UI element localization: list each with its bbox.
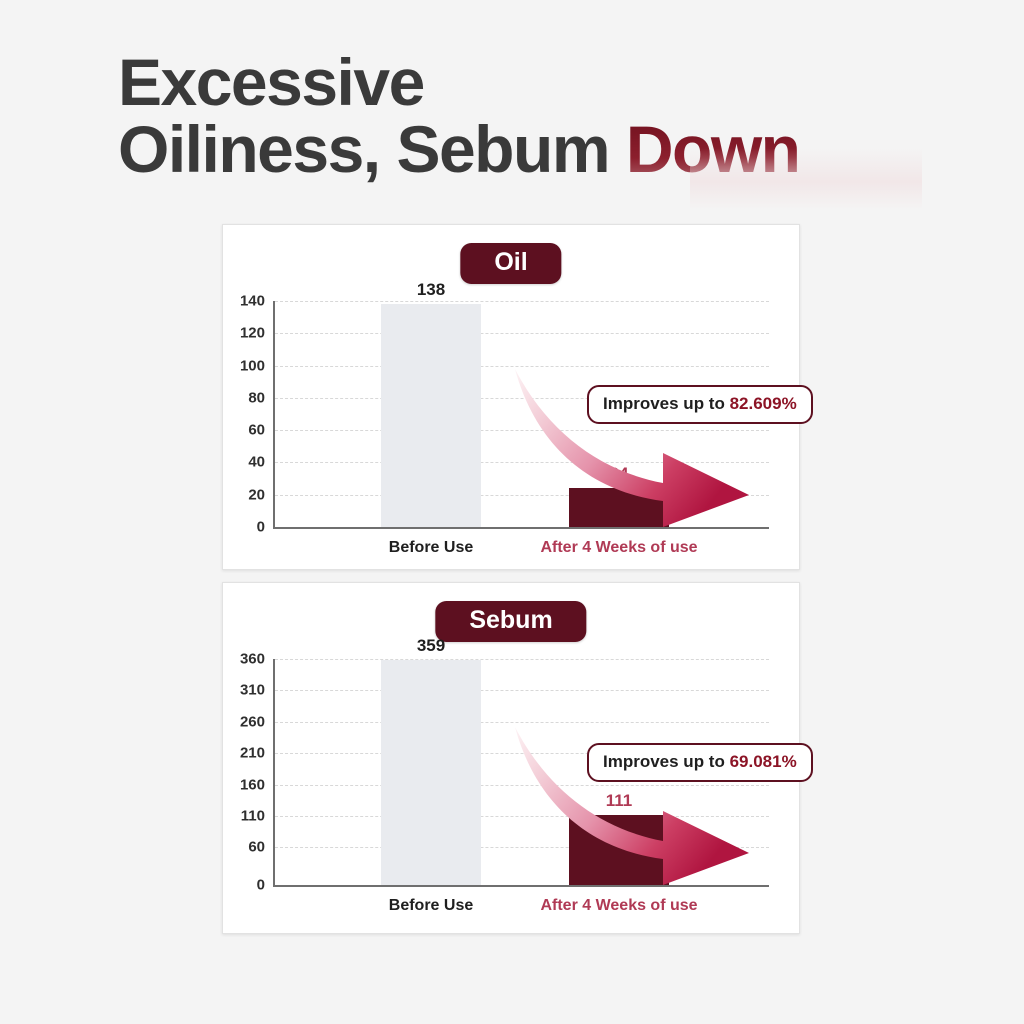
y-axis-tick-label: 260: [240, 713, 265, 730]
gridline: [275, 301, 769, 302]
callout-prefix-sebum: Improves up to: [603, 752, 730, 771]
gridline: [275, 462, 769, 463]
callout-improvement-oil: Improves up to 82.609%: [587, 385, 813, 424]
y-axis-line: [273, 659, 275, 885]
y-axis-tick-label: 120: [240, 325, 265, 342]
page-title-line-2-plain: Oiliness, Sebum: [118, 112, 626, 186]
gridline: [275, 366, 769, 367]
gridline: [275, 785, 769, 786]
chart-card-sebum: Sebum 060110160210260310360 359 111 Befo…: [222, 582, 800, 934]
y-axis-tick-label: 160: [240, 776, 265, 793]
y-axis-tick-label: 0: [257, 519, 265, 536]
page-title: Excessive Oiliness, Sebum Down: [118, 52, 958, 179]
y-axis-tick-label: 60: [248, 839, 265, 856]
plot-area-sebum: 060110160210260310360 359 111 Before Use…: [273, 659, 769, 885]
bar-value-before-sebum: 359: [417, 636, 445, 656]
y-axis-tick-label: 140: [240, 293, 265, 310]
y-axis-tick-label: 40: [248, 454, 265, 471]
bar-before-use-sebum: 359: [381, 660, 481, 885]
callout-improvement-sebum: Improves up to 69.081%: [587, 743, 813, 782]
gridline: [275, 690, 769, 691]
y-axis-tick-label: 210: [240, 745, 265, 762]
bar-after-4-weeks-oil: 24: [569, 488, 669, 527]
x-label-after-4-weeks-sebum: After 4 Weeks of use: [540, 897, 697, 915]
x-label-after-4-weeks-oil: After 4 Weeks of use: [540, 539, 697, 557]
gridline: [275, 430, 769, 431]
callout-prefix-oil: Improves up to: [603, 394, 730, 413]
bar-before-use-oil: 138: [381, 304, 481, 527]
page-title-line-2: Oiliness, Sebum Down: [118, 119, 958, 180]
x-axis-line: [273, 527, 769, 529]
bar-value-after-oil: 24: [610, 464, 629, 484]
y-axis-tick-label: 110: [241, 807, 265, 824]
y-axis-tick-label: 360: [240, 651, 265, 668]
chart-badge-oil: Oil: [460, 243, 561, 284]
gridline: [275, 816, 769, 817]
y-axis-tick-label: 60: [248, 422, 265, 439]
page-title-line-1: Excessive: [118, 52, 958, 113]
plot-area-oil: 020406080100120140 138 24 Before Use Aft…: [273, 301, 769, 527]
gridline: [275, 722, 769, 723]
callout-percent-oil: 82.609%: [730, 394, 797, 413]
gridline: [275, 847, 769, 848]
y-axis-tick-label: 0: [257, 877, 265, 894]
x-label-before-use-oil: Before Use: [389, 539, 473, 557]
gridline: [275, 333, 769, 334]
callout-percent-sebum: 69.081%: [730, 752, 797, 771]
x-axis-line: [273, 885, 769, 887]
y-axis-tick-label: 310: [240, 682, 265, 699]
chart-card-oil: Oil 020406080100120140 138 24 Before Use…: [222, 224, 800, 570]
x-label-before-use-sebum: Before Use: [389, 897, 473, 915]
bar-after-4-weeks-sebum: 111: [569, 815, 669, 885]
chart-badge-sebum: Sebum: [435, 601, 586, 642]
bar-value-before-oil: 138: [417, 280, 445, 300]
y-axis-tick-label: 100: [240, 357, 265, 374]
y-axis-tick-label: 20: [248, 486, 265, 503]
gridline: [275, 495, 769, 496]
y-axis-tick-label: 80: [248, 389, 265, 406]
y-axis-line: [273, 301, 275, 527]
bar-value-after-sebum: 111: [606, 791, 633, 811]
page-title-accent-down: Down: [626, 112, 800, 186]
gridline: [275, 659, 769, 660]
